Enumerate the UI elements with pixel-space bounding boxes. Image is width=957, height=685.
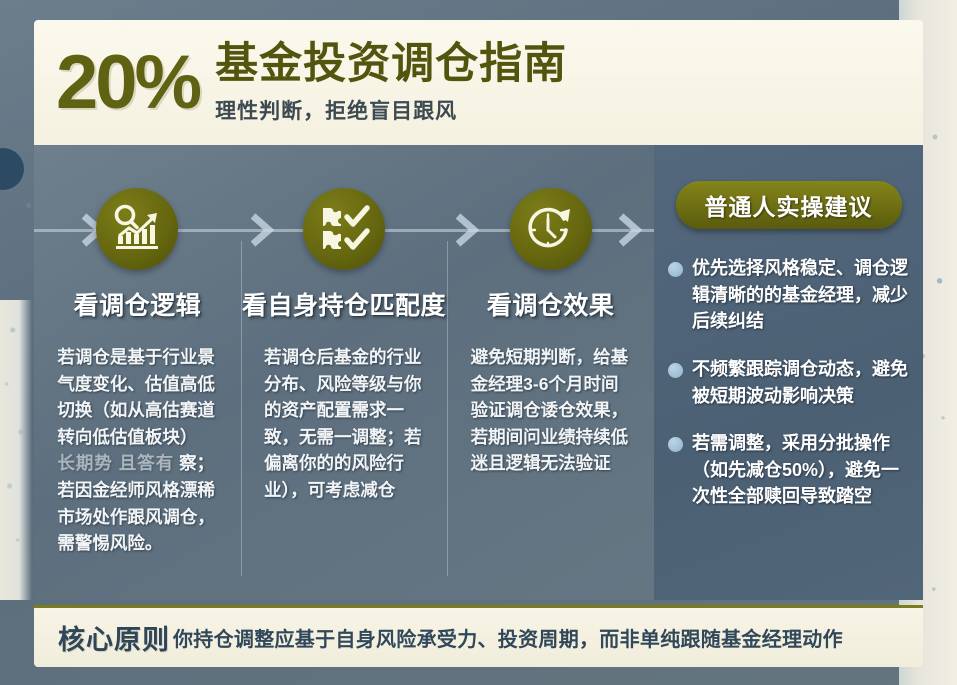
- step-title-3: 看调仓效果: [487, 286, 615, 322]
- step-body-1-main: 若调仓是基于行业景气度变化、估值高低切换（如从高估赛道转向低估值板块）: [57, 347, 215, 447]
- bullet-dot-icon: [668, 363, 683, 378]
- decorative-dot: [0, 148, 24, 190]
- step-title-2: 看自身持仓匹配度: [242, 286, 446, 322]
- steps-area: 看调仓逻辑 若调仓是基于行业景气度变化、估值高低切换（如从高估赛道转向低估值板块…: [34, 145, 654, 600]
- infographic-poster: 20% 基金投资调仓指南 理性判断，拒绝盲目跟风: [0, 0, 957, 685]
- bullet-dot-icon: [668, 262, 683, 277]
- advice-bullet-text: 优先选择风格稳定、调仓逻辑清晰的的基金经理，减少后续纠结: [692, 255, 916, 335]
- list-item: 不频繁跟踪调仓动态，避免被短期波动影响决策: [668, 356, 916, 409]
- advice-bullet-text: 不频繁跟踪调仓动态，避免被短期波动影响决策: [692, 356, 916, 409]
- header-text-group: 基金投资调仓指南 理性判断，拒绝盲目跟风: [215, 40, 567, 125]
- step-body-1: 若调仓是基于行业景气度变化、估值高低切换（如从高估赛道转向低估值板块） 长期势 …: [57, 344, 217, 557]
- left-texture-decoration: [0, 300, 32, 600]
- clock-arrow-icon: [510, 188, 592, 270]
- list-item: 优先选择风格稳定、调仓逻辑清晰的的基金经理，减少后续纠结: [668, 255, 916, 335]
- advice-panel: 普通人实操建议 优先选择风格稳定、调仓逻辑清晰的的基金经理，减少后续纠结 不频繁…: [654, 145, 923, 600]
- magnifier-chart-icon: [96, 188, 178, 270]
- step-title-1: 看调仓逻辑: [74, 286, 202, 322]
- main-content: 看调仓逻辑 若调仓是基于行业景气度变化、估值高低切换（如从高估赛道转向低估值板块…: [34, 145, 923, 600]
- advice-bullet-list: 优先选择风格稳定、调仓逻辑清晰的的基金经理，减少后续纠结 不频繁跟踪调仓动态，避…: [668, 255, 916, 510]
- bullet-dot-icon: [668, 437, 683, 452]
- header-percent: 20%: [56, 45, 199, 121]
- advice-panel-title: 普通人实操建议: [705, 188, 873, 222]
- step-body-3: 避免短期判断，给基金经理3-6个月时间验证调仓诿仓效果，若期间问业绩持续低迷且逻…: [471, 344, 631, 477]
- page-title: 基金投资调仓指南: [215, 40, 567, 88]
- list-item: 若需调整，采用分批操作（如先减仓50%），避免一次性全部赎回导致踏空: [668, 430, 916, 510]
- advice-bullet-text: 若需调整，采用分批操作（如先减仓50%），避免一次性全部赎回导致踏空: [692, 430, 916, 510]
- step-column-3: 看调仓效果 避免短期判断，给基金经理3-6个月时间验证调仓诿仓效果，若期间问业绩…: [447, 145, 654, 600]
- step-body-2: 若调仓后基金的行业分布、风险等级与你的资产配置需求一致，无需一调整；若偏离你的的…: [264, 344, 424, 504]
- footer-text: 你持仓调整应基于自身风险承受力、投资周期，而非单纯跟随基金经理动作: [173, 623, 843, 652]
- footer-banner: 核心原则 你持仓调整应基于自身风险承受力、投资周期，而非单纯跟随基金经理动作: [34, 605, 923, 667]
- page-subtitle: 理性判断，拒绝盲目跟风: [215, 95, 567, 125]
- step-body-1-glitch: 长期势 且答有: [57, 453, 174, 473]
- step-column-2: 看自身持仓匹配度 若调仓后基金的行业分布、风险等级与你的资产配置需求一致，无需一…: [241, 145, 448, 600]
- footer-label: 核心原则: [58, 618, 170, 657]
- advice-panel-pill: 普通人实操建议: [676, 181, 902, 229]
- header-banner: 20% 基金投资调仓指南 理性判断，拒绝盲目跟风: [34, 20, 923, 145]
- puzzle-check-icon: [303, 188, 385, 270]
- step-column-1: 看调仓逻辑 若调仓是基于行业景气度变化、估值高低切换（如从高估赛道转向低估值板块…: [34, 145, 241, 600]
